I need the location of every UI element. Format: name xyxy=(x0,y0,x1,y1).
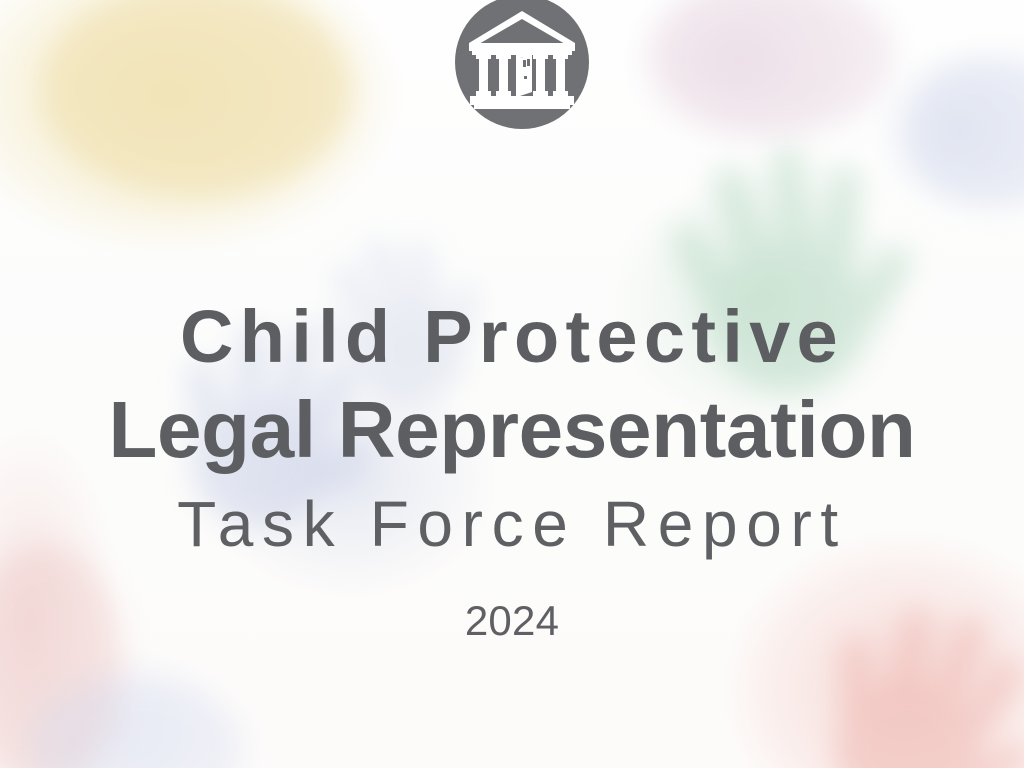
courthouse-logo xyxy=(454,0,590,130)
title-block: Child Protective Legal Representation Ta… xyxy=(0,300,1024,642)
blue-smudge-bottom-left xyxy=(20,660,250,768)
subtitle: Task Force Report xyxy=(0,492,1024,556)
lavender-smudge xyxy=(640,0,900,150)
blue-smudge-top-right xyxy=(890,40,1024,220)
title-line-2: Legal Representation xyxy=(0,390,1024,470)
title-line-1: Child Protective xyxy=(0,300,1024,374)
yellow-smudge xyxy=(20,0,360,220)
year: 2024 xyxy=(0,600,1024,642)
report-cover-page: Child Protective Legal Representation Ta… xyxy=(0,0,1024,768)
